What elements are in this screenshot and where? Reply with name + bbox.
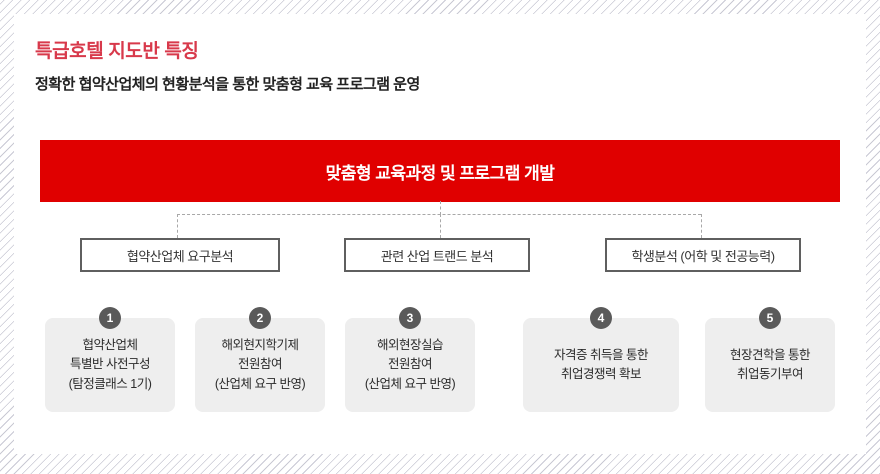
step-card-1-line-2: 특별반 사전구성 <box>70 355 150 374</box>
connector-banner-stem <box>440 201 441 215</box>
connector-horizontal <box>177 214 701 215</box>
step-card-3-line-1: 해외현장실습 <box>377 336 443 355</box>
analysis-box-2: 관련 산업 트랜드 분석 <box>344 238 530 272</box>
program-banner: 맞춤형 교육과정 및 프로그램 개발 <box>40 140 840 202</box>
step-card-row: 1 협약산업체 특별반 사전구성 (탐정클래스 1기) 2 해외현지학기제 전원… <box>14 304 866 416</box>
page-subtitle: 정확한 협약산업체의 현황분석을 통한 맞춤형 교육 프로그램 운영 <box>35 76 420 94</box>
connector-drop-right <box>701 214 702 238</box>
step-card-3-line-2: 전원참여 <box>388 355 432 374</box>
step-card-1: 1 협약산업체 특별반 사전구성 (탐정클래스 1기) <box>45 318 175 412</box>
step-card-4-line-1: 자격증 취득을 통한 <box>554 346 648 365</box>
step-card-5: 5 현장견학을 통한 취업동기부여 <box>705 318 835 412</box>
step-card-4-badge: 4 <box>590 307 612 329</box>
analysis-box-3: 학생분석 (어학 및 전공능력) <box>605 238 801 272</box>
connector-drop-left <box>177 214 178 238</box>
step-card-2-line-2: 전원참여 <box>238 355 282 374</box>
step-card-3-badge: 3 <box>399 307 421 329</box>
analysis-box-1-label: 협약산업체 요구분석 <box>127 246 233 265</box>
step-card-2-line-3: (산업체 요구 반영) <box>215 375 305 394</box>
analysis-box-2-label: 관련 산업 트랜드 분석 <box>381 246 493 265</box>
step-card-5-line-1: 현장견학을 통한 <box>730 346 810 365</box>
step-card-1-line-1: 협약산업체 <box>82 336 137 355</box>
analysis-box-1: 협약산업체 요구분석 <box>80 238 280 272</box>
step-card-2-line-1: 해외현지학기제 <box>221 336 298 355</box>
step-card-5-badge: 5 <box>759 307 781 329</box>
step-card-4-line-2: 취업경쟁력 확보 <box>561 365 641 384</box>
program-banner-label: 맞춤형 교육과정 및 프로그램 개발 <box>326 159 555 184</box>
analysis-box-3-label: 학생분석 (어학 및 전공능력) <box>631 246 774 265</box>
step-card-4: 4 자격증 취득을 통한 취업경쟁력 확보 <box>523 318 679 412</box>
step-card-2: 2 해외현지학기제 전원참여 (산업체 요구 반영) <box>195 318 325 412</box>
step-card-3: 3 해외현장실습 전원참여 (산업체 요구 반영) <box>345 318 475 412</box>
step-card-1-line-3: (탐정클래스 1기) <box>69 375 152 394</box>
step-card-2-badge: 2 <box>249 307 271 329</box>
page-title: 특급호텔 지도반 특징 <box>35 41 198 64</box>
step-card-3-line-3: (산업체 요구 반영) <box>365 375 455 394</box>
connector-drop-center <box>440 214 441 238</box>
step-card-1-badge: 1 <box>99 307 121 329</box>
slide-canvas: 특급호텔 지도반 특징 정확한 협약산업체의 현황분석을 통한 맞춤형 교육 프… <box>14 14 866 454</box>
step-card-5-line-2: 취업동기부여 <box>737 365 803 384</box>
